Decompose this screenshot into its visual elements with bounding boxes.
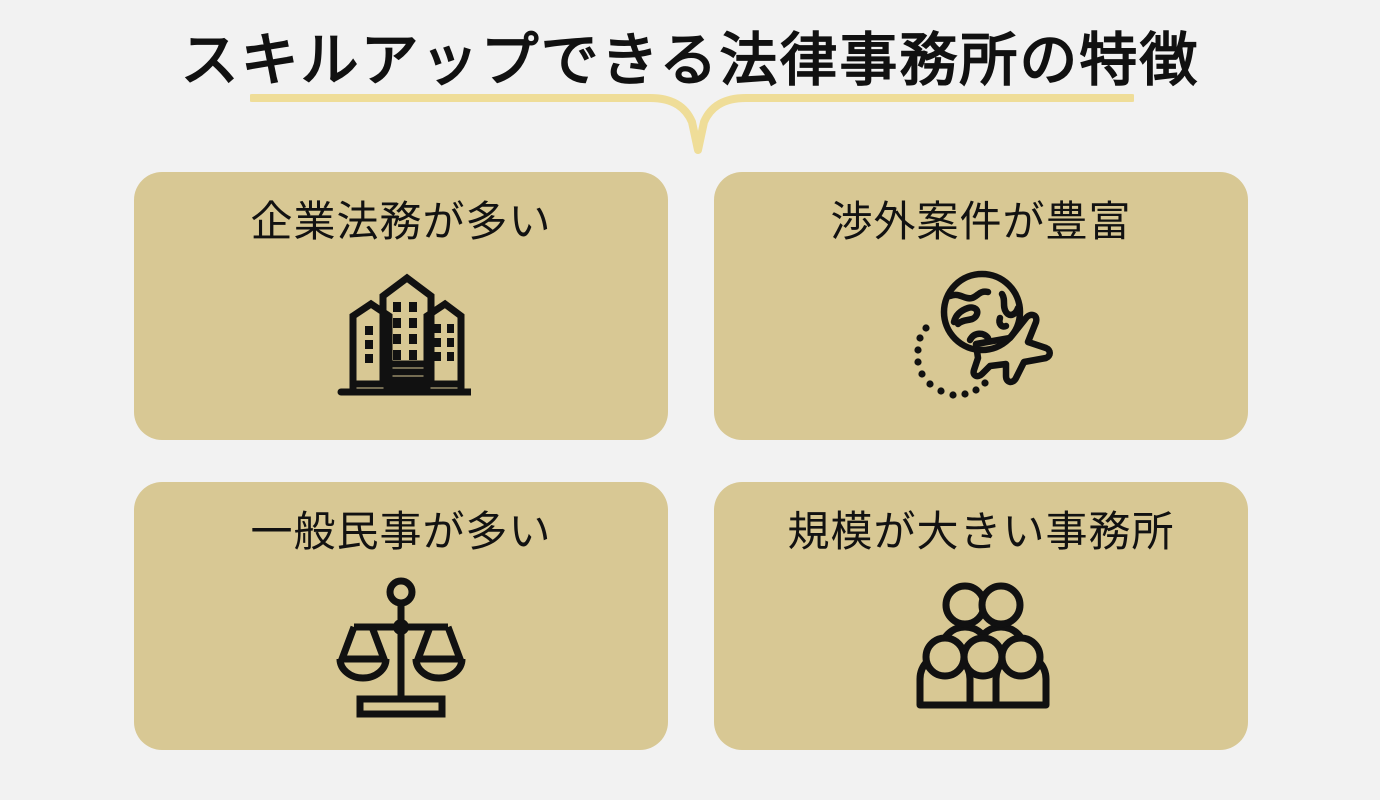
feature-card[interactable]: 一般民事が多い [134, 482, 668, 750]
feature-card[interactable]: 企業法務が多い [134, 172, 668, 440]
feature-card-label: 企業法務が多い [250, 196, 551, 249]
globe-airplane-icon [905, 261, 1057, 411]
brace-pointer-underline-icon [250, 92, 1134, 158]
feature-card-label: 規模が大きい事務所 [787, 506, 1174, 559]
office-buildings-icon [325, 261, 477, 411]
group-of-people-icon [905, 571, 1057, 721]
feature-card-label: 一般民事が多い [250, 506, 551, 559]
feature-card[interactable]: 渉外案件が豊富 [714, 172, 1248, 440]
feature-card-label: 渉外案件が豊富 [830, 196, 1131, 249]
balance-scale-icon [325, 571, 477, 721]
infographic-page: スキルアップできる法律事務所の特徴 企業法務が多い [0, 0, 1380, 800]
page-title-block: スキルアップできる法律事務所の特徴 [0, 28, 1380, 95]
page-title: スキルアップできる法律事務所の特徴 [181, 28, 1200, 95]
feature-card-grid: 企業法務が多い [134, 172, 1248, 750]
feature-card[interactable]: 規模が大きい事務所 [714, 482, 1248, 750]
